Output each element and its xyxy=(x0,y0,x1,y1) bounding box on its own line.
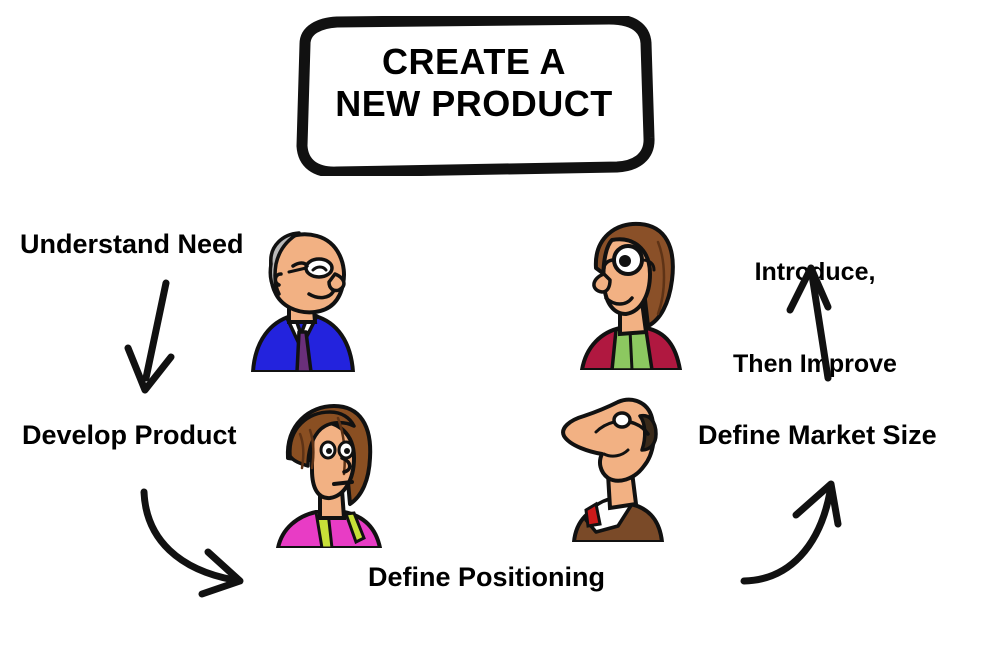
character-3-illustration xyxy=(556,392,672,542)
step-label-introduce-line-1: Introduce, xyxy=(715,257,915,288)
step-label-introduce-line-2: Then Improve xyxy=(715,349,915,380)
character-4-illustration xyxy=(572,218,686,370)
character-woman-glasses-green-shirt xyxy=(572,218,686,370)
arrow-positioning-to-market xyxy=(744,484,838,581)
diagram-canvas: CREATE A NEW PRODUCT Understand Need Dev… xyxy=(0,0,1000,652)
step-label-understand-need: Understand Need xyxy=(20,228,244,261)
arrow-understand-to-develop xyxy=(128,283,171,390)
step-label-introduce-then-improve: Introduce, Then Improve xyxy=(715,196,915,440)
character-bald-man-profile-looking-up xyxy=(556,392,672,542)
title-box: CREATE A NEW PRODUCT xyxy=(291,16,657,176)
step-label-develop-product: Develop Product xyxy=(22,419,237,452)
character-1-illustration xyxy=(243,222,358,372)
arrow-develop-to-positioning xyxy=(144,492,240,594)
title-line-1: CREATE A xyxy=(382,41,566,83)
character-2-illustration xyxy=(272,400,384,548)
title-line-2: NEW PRODUCT xyxy=(335,83,613,125)
character-woman-brown-bob-pink-top xyxy=(272,400,384,548)
step-label-define-positioning: Define Positioning xyxy=(368,561,605,594)
title-text-group: CREATE A NEW PRODUCT xyxy=(291,16,657,176)
character-older-man-glasses-blue-suit xyxy=(243,222,358,372)
